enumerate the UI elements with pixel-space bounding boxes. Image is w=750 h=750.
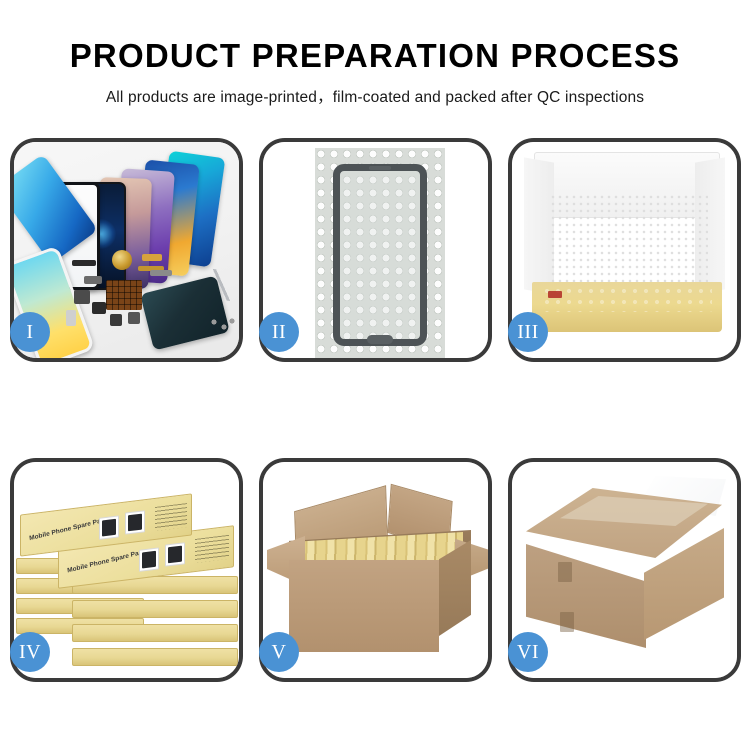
part-sim-tray <box>66 310 76 326</box>
carton-tab-lower <box>560 612 574 632</box>
step-panel-5: V <box>259 458 492 682</box>
step-badge-6: VI <box>508 632 548 672</box>
mailer-box-tray <box>532 282 722 332</box>
part-button <box>110 314 122 326</box>
box-window-1 <box>139 547 159 571</box>
wrapped-screen-in-box <box>542 286 712 312</box>
box-window-1 <box>99 515 119 539</box>
step-panel-4: Mobile Phone Spare Parts Mobile Phone Sp… <box>10 458 243 682</box>
step-panel-2: II <box>259 138 492 362</box>
carton-tab-upper <box>558 562 572 582</box>
tweezers-icon <box>201 268 239 302</box>
step-panel-3: III <box>508 138 741 362</box>
product-preparation-infographic: PRODUCT PREPARATION PROCESS All products… <box>0 0 750 750</box>
stacked-box <box>72 648 238 666</box>
page-title: PRODUCT PREPARATION PROCESS <box>0 38 750 74</box>
screws-icon <box>210 318 236 332</box>
chip-array-icon <box>106 280 142 310</box>
step-badge-5: V <box>259 632 299 672</box>
part-camera <box>92 302 106 314</box>
carton-front-face <box>289 560 439 652</box>
part-antenna <box>150 270 172 276</box>
step-badge-4: IV <box>10 632 50 672</box>
step-badge-2: II <box>259 312 299 352</box>
stacked-box <box>72 600 238 618</box>
step-panel-6: VI <box>508 458 741 682</box>
step-panel-1: I <box>10 138 243 362</box>
step-badge-3: III <box>508 312 548 352</box>
bubble-wrap-sheet <box>315 148 445 358</box>
box-window-2 <box>165 542 185 566</box>
step-badge-1: I <box>10 312 50 352</box>
part-module <box>74 290 90 304</box>
earpiece-slot <box>369 166 391 170</box>
carton-front-face <box>526 544 646 648</box>
header: PRODUCT PREPARATION PROCESS All products… <box>0 0 750 107</box>
part-bracket <box>84 276 102 284</box>
speaker-coil-icon <box>112 250 132 270</box>
page-subtitle: All products are image-printed，film-coat… <box>0 85 750 107</box>
part-strip <box>72 260 96 266</box>
wrapped-phone-screen <box>333 164 427 346</box>
box-window-2 <box>125 510 145 534</box>
part-connector <box>142 254 162 261</box>
box-spec-lines <box>195 535 229 563</box>
part-vibrator <box>128 312 140 324</box>
steps-grid: I II III <box>10 138 741 682</box>
stacked-box <box>72 624 238 642</box>
box-spec-lines <box>155 503 187 531</box>
